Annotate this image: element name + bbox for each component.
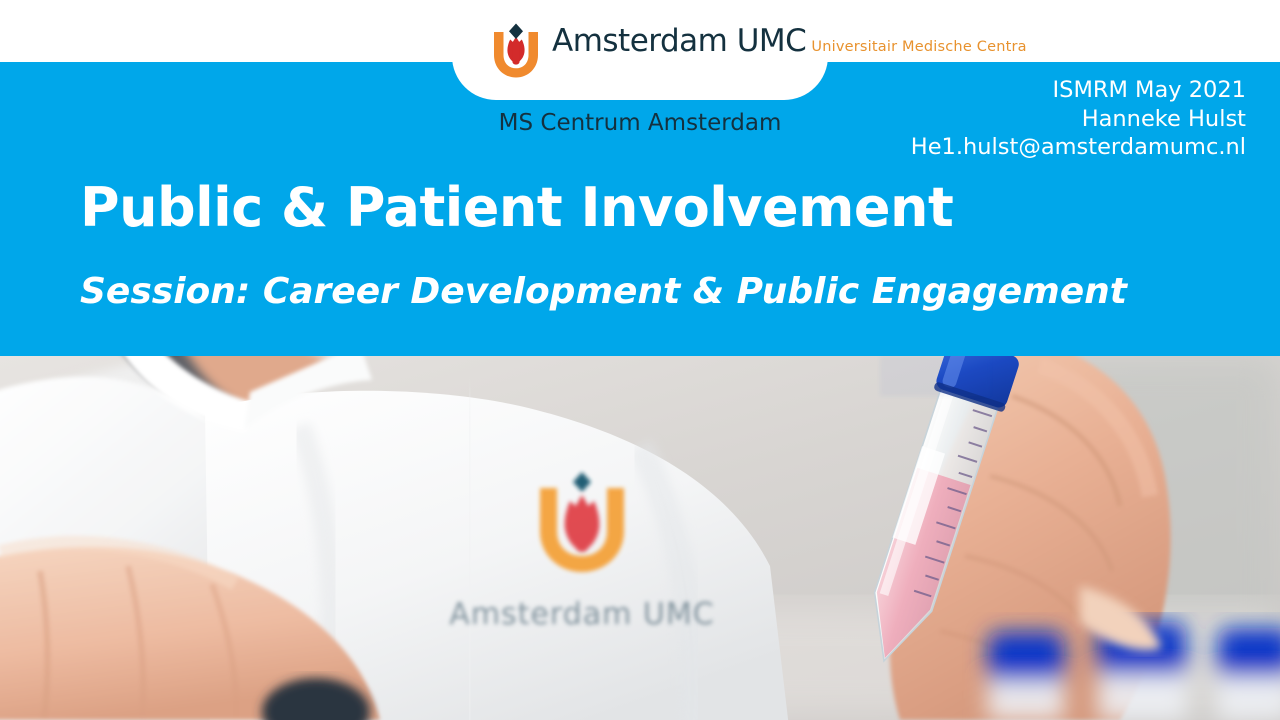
svg-text:Amsterdam UMC: Amsterdam UMC — [449, 597, 714, 632]
amsterdam-umc-tulip-logo-icon — [490, 22, 542, 80]
brand-title: Amsterdam UMC — [552, 23, 806, 59]
meta-presenter: Hanneke Hulst — [911, 105, 1246, 134]
presentation-slide: Amsterdam UMC Universitair Medische Cent… — [0, 0, 1280, 720]
presentation-meta-block: ISMRM May 2021 Hanneke Hulst He1.hulst@a… — [911, 76, 1246, 162]
meta-conference: ISMRM May 2021 — [911, 76, 1246, 105]
brand-wordmark: Amsterdam UMC Universitair Medische Cent… — [552, 22, 1027, 58]
meta-email[interactable]: He1.hulst@amsterdamumc.nl — [911, 133, 1246, 162]
lab-photo: Amsterdam UMC — [0, 356, 1280, 720]
slide-subheadline: Session: Career Development & Public Eng… — [80, 269, 1127, 315]
brand-logo-lockup: Amsterdam UMC Universitair Medische Cent… — [490, 22, 1027, 80]
brand-tagline: Universitair Medische Centra — [811, 39, 1026, 55]
slide-headline: Public & Patient Involvement — [80, 177, 953, 239]
